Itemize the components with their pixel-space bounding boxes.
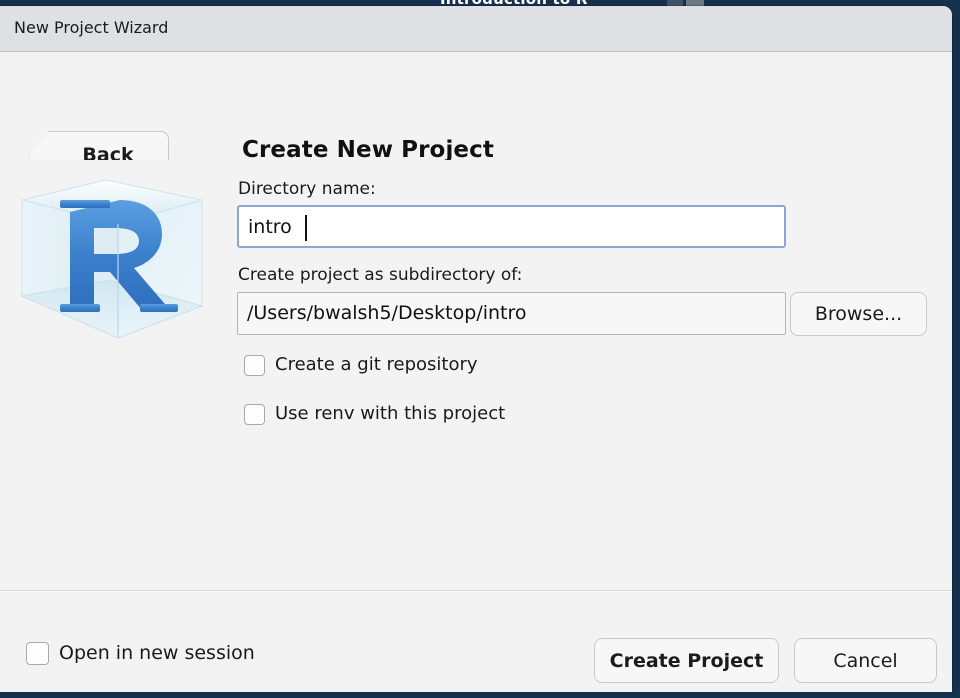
create-project-button-label: Create Project (595, 650, 778, 672)
cancel-button-label: Cancel (795, 650, 936, 672)
r-project-glass-cube-logo (14, 178, 210, 378)
directory-name-value: intro (248, 216, 292, 238)
subdirectory-label: Create project as subdirectory of: (238, 265, 522, 285)
checkbox-box-icon (26, 642, 49, 665)
subdirectory-path-input[interactable]: /Users/bwalsh5/Desktop/intro (237, 292, 786, 335)
dialog-titlebar[interactable]: New Project Wizard (0, 6, 952, 52)
subdirectory-path-value: /Users/bwalsh5/Desktop/intro (247, 302, 527, 324)
create-project-button[interactable]: Create Project (594, 638, 779, 683)
dialog-title: New Project Wizard (14, 18, 168, 37)
text-caret (305, 215, 307, 241)
wizard-body: Directory name: intro Create project as … (0, 160, 952, 590)
checkbox-label: Create a git repository (275, 354, 478, 375)
checkbox-box-icon (244, 404, 265, 425)
directory-name-input[interactable]: intro (237, 205, 786, 248)
checkbox-box-icon (244, 355, 265, 376)
checkbox-label: Use renv with this project (275, 403, 505, 424)
desktop-bottom-strip (0, 692, 960, 698)
new-project-wizard-dialog: New Project Wizard Back Create New Proje… (0, 6, 952, 692)
browse-button[interactable]: Browse... (790, 292, 927, 336)
wizard-header: Back Create New Project (0, 52, 952, 158)
directory-name-label: Directory name: (238, 179, 376, 199)
checkbox-label: Open in new session (59, 642, 255, 664)
browse-button-label: Browse... (791, 303, 926, 325)
dialog-footer: Open in new session Create Project Cance… (0, 592, 952, 692)
cancel-button[interactable]: Cancel (794, 638, 937, 683)
